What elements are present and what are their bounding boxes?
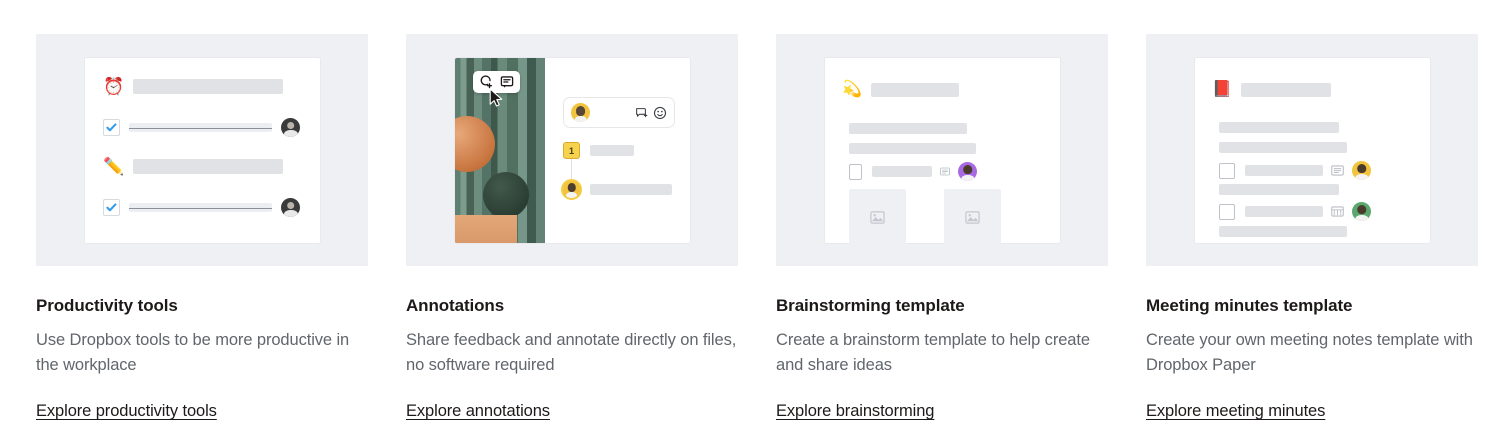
completed-task-bar <box>129 123 272 133</box>
card-description: Use Dropbox tools to be more productive … <box>36 328 368 378</box>
feature-card-annotations: 1 Annotations Share feedback and annotat… <box>406 34 738 421</box>
text-placeholder-bar <box>590 145 634 156</box>
heading-placeholder-bar <box>1241 83 1331 97</box>
list-card-icon[interactable] <box>1331 165 1344 176</box>
text-placeholder-bar <box>133 159 283 174</box>
doc-heading-row: 📕 <box>1211 82 1331 98</box>
avatar[interactable] <box>281 118 300 137</box>
checklist-row <box>1219 161 1371 180</box>
list-card-icon[interactable] <box>940 166 950 177</box>
text-placeholder-bar <box>1219 226 1347 237</box>
emoji-reaction-icon[interactable] <box>653 106 667 120</box>
card-link-brainstorming[interactable]: Explore brainstorming <box>776 402 934 421</box>
pencil-emoji: ✏️ <box>103 158 125 175</box>
comment-bubble-icon[interactable] <box>500 75 514 89</box>
card-description: Share feedback and annotate directly on … <box>406 328 738 378</box>
checkbox-empty-icon[interactable] <box>1219 204 1235 220</box>
image-placeholder-icon <box>965 211 980 224</box>
text-placeholder-bar <box>1219 122 1339 133</box>
text-placeholder-bar <box>133 79 283 94</box>
file-preview-panel: 1 <box>454 57 691 244</box>
annotation-pin-badge[interactable]: 1 <box>563 142 580 159</box>
thumbnail-meeting-minutes-template: 📕 <box>1146 34 1478 266</box>
thumbnail-brainstorming-template: 💫 <box>776 34 1108 266</box>
card-description: Create a brainstorm template to help cre… <box>776 328 1108 378</box>
closed-book-emoji: 📕 <box>1211 82 1233 98</box>
checkbox-empty-icon[interactable] <box>849 164 862 180</box>
text-placeholder-bar <box>1219 184 1339 195</box>
completed-task-bar <box>129 203 272 213</box>
card-description: Create your own meeting notes template w… <box>1146 328 1478 378</box>
comment-composer[interactable] <box>563 97 675 128</box>
avatar[interactable] <box>281 198 300 217</box>
card-link-meeting-minutes[interactable]: Explore meeting minutes <box>1146 402 1325 421</box>
card-title: Brainstorming template <box>776 296 1108 316</box>
document-panel: 📕 <box>1194 57 1431 244</box>
image-placeholder[interactable] <box>944 189 1001 245</box>
checklist-row <box>849 162 977 181</box>
green-sphere-shape <box>483 172 529 218</box>
avatar[interactable] <box>1352 161 1371 180</box>
doc-heading-row: 💫 <box>841 82 959 98</box>
task-row-1: ⏰ <box>103 78 303 95</box>
card-title: Productivity tools <box>36 296 368 316</box>
task-row-4 <box>103 198 308 217</box>
add-comment-pin-icon[interactable] <box>479 75 493 89</box>
text-placeholder-bar <box>1245 165 1323 176</box>
checklist-row <box>1219 202 1371 221</box>
thumbnail-productivity-tools: ⏰ ✏️ <box>36 34 368 266</box>
card-link-annotations[interactable]: Explore annotations <box>406 402 550 421</box>
task-row-3: ✏️ <box>103 158 303 175</box>
checkbox-checked-icon[interactable] <box>103 119 120 136</box>
feature-card-productivity-tools: ⏰ ✏️ <box>36 34 368 421</box>
feature-card-meeting-minutes-template: 📕 <box>1146 34 1478 421</box>
cursor-arrow-icon <box>489 88 504 108</box>
heading-placeholder-bar <box>871 83 959 97</box>
feature-card-grid: ⏰ ✏️ <box>0 0 1503 421</box>
task-row-2 <box>103 118 308 137</box>
text-placeholder-bar <box>1219 142 1347 153</box>
document-panel: 💫 <box>824 57 1061 244</box>
card-title: Meeting minutes template <box>1146 296 1478 316</box>
checkbox-empty-icon[interactable] <box>1219 163 1235 179</box>
orange-sphere-shape <box>454 116 495 172</box>
image-placeholder[interactable] <box>849 189 906 245</box>
avatar[interactable] <box>958 162 977 181</box>
text-placeholder-bar <box>590 184 672 195</box>
calendar-icon[interactable] <box>1331 206 1344 217</box>
feature-card-brainstorming-template: 💫 <box>776 34 1108 421</box>
avatar[interactable] <box>561 179 582 200</box>
pedestal-shape <box>455 215 517 243</box>
checkbox-checked-icon[interactable] <box>103 199 120 216</box>
shooting-star-emoji: 💫 <box>841 82 863 98</box>
card-title: Annotations <box>406 296 738 316</box>
text-placeholder-bar <box>849 123 967 134</box>
text-placeholder-bar <box>849 143 976 154</box>
avatar[interactable] <box>571 103 590 122</box>
alarm-clock-emoji: ⏰ <box>103 78 125 95</box>
task-list-panel: ⏰ ✏️ <box>84 57 321 244</box>
text-placeholder-bar <box>872 166 932 177</box>
thumbnail-annotations: 1 <box>406 34 738 266</box>
add-comment-icon[interactable] <box>635 106 648 119</box>
avatar[interactable] <box>1352 202 1371 221</box>
text-placeholder-bar <box>1245 206 1323 217</box>
card-link-productivity-tools[interactable]: Explore productivity tools <box>36 402 217 421</box>
image-placeholder-icon <box>870 211 885 224</box>
